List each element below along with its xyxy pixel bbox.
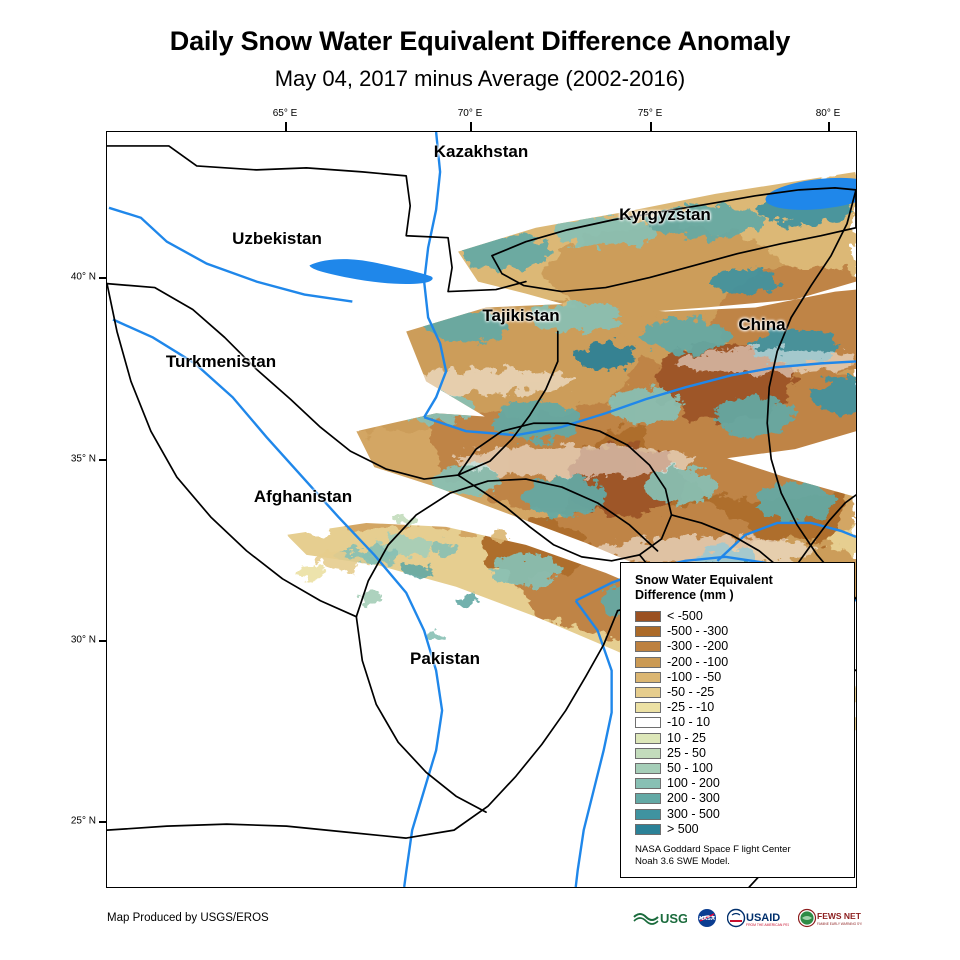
legend-row: < -500 (635, 609, 854, 624)
map-legend: Snow Water Equivalent Difference (mm ) <… (620, 562, 855, 878)
tick-mark-lon-75 (650, 122, 652, 131)
legend-row: -25 - -10 (635, 700, 854, 715)
tick-label-lat-40: 40° N (64, 272, 96, 283)
svg-text:FAMINE EARLY WARNING SYSTEMS N: FAMINE EARLY WARNING SYSTEMS NETWORK (817, 922, 862, 926)
legend-label: < -500 (667, 610, 703, 623)
legend-swatch (635, 809, 661, 820)
usaid-logo: USAID FROM THE AMERICAN PEOPLE (727, 908, 789, 928)
svg-text:FEWS NET: FEWS NET (817, 911, 862, 921)
legend-source-note: NASA Goddard Space F light Center Noah 3… (635, 844, 840, 868)
legend-swatch (635, 763, 661, 774)
legend-swatch (635, 793, 661, 804)
tick-label-lon-75: 75° E (638, 108, 663, 119)
legend-row: -100 - -50 (635, 670, 854, 685)
legend-swatch (635, 626, 661, 637)
legend-swatch (635, 687, 661, 698)
legend-label: -500 - -300 (667, 625, 728, 638)
tick-label-lon-80: 80° E (816, 108, 841, 119)
usgs-logo: USGS (633, 908, 687, 928)
legend-swatch (635, 641, 661, 652)
legend-row: 50 - 100 (635, 761, 854, 776)
legend-row: -200 - -100 (635, 655, 854, 670)
legend-note-line1: NASA Goddard Space F light Center (635, 844, 840, 856)
legend-label: -10 - 10 (667, 716, 710, 729)
tick-label-lat-30: 30° N (64, 635, 96, 646)
legend-label: 200 - 300 (667, 792, 720, 805)
legend-row: 10 - 25 (635, 731, 854, 746)
tick-label-lat-35: 35° N (64, 454, 96, 465)
legend-swatch (635, 611, 661, 622)
legend-swatch (635, 733, 661, 744)
legend-label: 300 - 500 (667, 808, 720, 821)
fewsnet-logo: FEWS NET FAMINE EARLY WARNING SYSTEMS NE… (798, 908, 862, 928)
legend-label: 100 - 200 (667, 777, 720, 790)
country-label-pakistan: Pakistan (410, 649, 480, 669)
legend-row: > 500 (635, 822, 854, 837)
legend-label: 10 - 25 (667, 732, 706, 745)
nasa-logo: NASA (696, 908, 718, 928)
country-label-kyrgyzstan: Kyrgyzstan (619, 205, 711, 225)
legend-row: -300 - -200 (635, 639, 854, 654)
country-label-turkmenistan: Turkmenistan (166, 352, 276, 372)
page-subtitle: May 04, 2017 minus Average (2002-2016) (0, 66, 960, 92)
tick-mark-lon-65 (285, 122, 287, 131)
tick-mark-lon-70 (470, 122, 472, 131)
legend-swatch (635, 824, 661, 835)
country-label-tajikistan: Tajikistan (482, 306, 559, 326)
legend-row: 300 - 500 (635, 806, 854, 821)
legend-title: Snow Water Equivalent Difference (mm ) (635, 573, 835, 603)
country-label-kazakhstan: Kazakhstan (434, 142, 528, 162)
map-credit: Map Produced by USGS/EROS (107, 912, 269, 924)
country-label-china: China (738, 315, 785, 335)
tick-label-lat-25: 25° N (64, 816, 96, 827)
tick-label-lon-65: 65° E (273, 108, 298, 119)
legend-label: -50 - -25 (667, 686, 714, 699)
tick-mark-lon-80 (828, 122, 830, 131)
legend-title-line2: Difference (mm ) (635, 588, 835, 603)
legend-note-line2: Noah 3.6 SWE Model. (635, 856, 840, 868)
legend-title-line1: Snow Water Equivalent (635, 573, 835, 588)
svg-text:FROM THE AMERICAN PEOPLE: FROM THE AMERICAN PEOPLE (746, 923, 789, 927)
legend-class-list: < -500-500 - -300-300 - -200-200 - -100-… (635, 609, 854, 837)
tick-label-lon-70: 70° E (458, 108, 483, 119)
legend-row: -10 - 10 (635, 715, 854, 730)
legend-swatch (635, 778, 661, 789)
legend-swatch (635, 748, 661, 759)
legend-row: -500 - -300 (635, 624, 854, 639)
legend-label: 25 - 50 (667, 747, 706, 760)
legend-row: -50 - -25 (635, 685, 854, 700)
legend-swatch (635, 672, 661, 683)
page-title: Daily Snow Water Equivalent Difference A… (0, 26, 960, 57)
country-label-uzbekistan: Uzbekistan (232, 229, 322, 249)
legend-row: 25 - 50 (635, 746, 854, 761)
legend-label: > 500 (667, 823, 699, 836)
legend-label: -25 - -10 (667, 701, 714, 714)
legend-swatch (635, 702, 661, 713)
svg-text:NASA: NASA (699, 916, 715, 922)
legend-swatch (635, 657, 661, 668)
legend-row: 200 - 300 (635, 791, 854, 806)
legend-row: 100 - 200 (635, 776, 854, 791)
country-label-afghanistan: Afghanistan (254, 487, 352, 507)
legend-label: 50 - 100 (667, 762, 713, 775)
agency-logos: USGS NASA USAID FROM THE AMERICAN PEOPLE… (633, 908, 862, 928)
legend-label: -200 - -100 (667, 656, 728, 669)
svg-text:USGS: USGS (660, 911, 687, 926)
legend-swatch (635, 717, 661, 728)
legend-label: -100 - -50 (667, 671, 721, 684)
legend-label: -300 - -200 (667, 640, 728, 653)
